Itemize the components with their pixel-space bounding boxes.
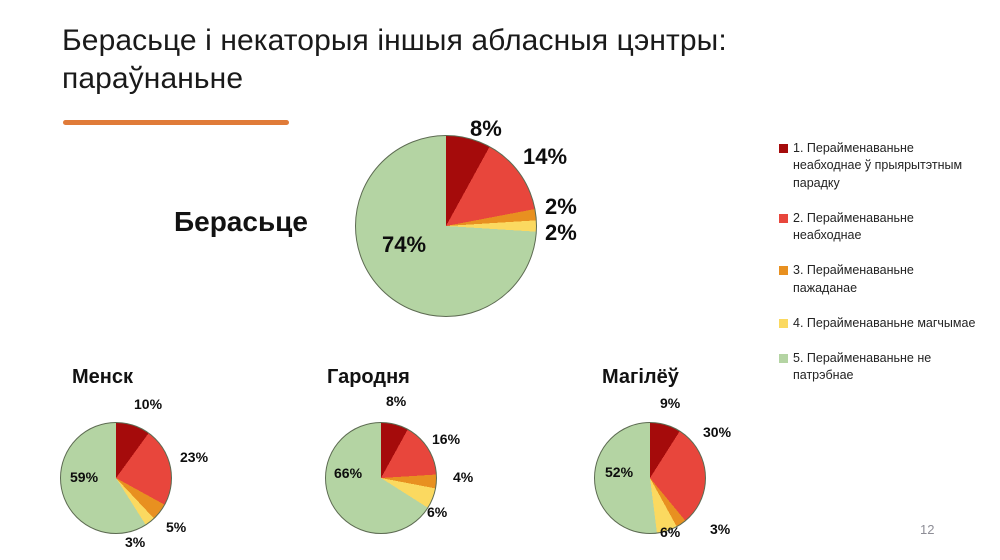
pie-mahilou-slice-label-1: 9%: [660, 396, 680, 410]
legend-item-5: 5. Перайменаваньне не патрэбнае: [779, 350, 979, 385]
pie-brest-circle: [355, 135, 537, 317]
pie-mahilou-slice-label-4: 6%: [660, 525, 680, 539]
pie-hrodna-slice-label-1: 8%: [386, 394, 406, 408]
pie-brest-slice-label-3: 2%: [545, 196, 577, 218]
legend-item-4: 4. Перайменаваньне магчымае: [779, 315, 979, 332]
pie-brest-slice-label-2: 14%: [523, 146, 567, 168]
pie-mahilou-slice-label-3: 3%: [710, 522, 730, 536]
page-number: 12: [920, 522, 934, 537]
pie-mahilou-slice-label-2: 30%: [703, 425, 731, 439]
pie-brest-title: Берасьце: [174, 206, 308, 238]
pie-hrodna-slice-label-5: 66%: [334, 466, 362, 480]
legend-label-5: 5. Перайменаваньне не патрэбнае: [793, 350, 979, 385]
pie-brest-slice-label-4: 2%: [545, 222, 577, 244]
legend-label-1: 1. Перайменаваньне неабходнае ў прыярытэ…: [793, 140, 979, 192]
pie-hrodna-slice-label-3: 4%: [453, 470, 473, 484]
legend-item-1: 1. Перайменаваньне неабходнае ў прыярытэ…: [779, 140, 979, 192]
legend-swatch-icon-4: [779, 319, 788, 328]
legend-item-3: 3. Перайменаваньне пажаданае: [779, 262, 979, 297]
pie-hrodna-title: Гародня: [327, 366, 410, 389]
pie-minsk-slice-label-5: 59%: [70, 470, 98, 484]
title-underline-accent: [63, 120, 289, 125]
chart-legend: 1. Перайменаваньне неабходнае ў прыярытэ…: [779, 140, 979, 403]
legend-label-2: 2. Перайменаваньне неабходнае: [793, 210, 979, 245]
legend-swatch-icon-2: [779, 214, 788, 223]
pie-brest-slice-label-5: 74%: [382, 234, 426, 256]
page-title: Берасьце і некаторыя іншыя абласныя цэнт…: [62, 22, 842, 99]
pie-mahilou-title: Магілёў: [602, 366, 679, 389]
legend-label-4: 4. Перайменаваньне магчымае: [793, 315, 975, 332]
pie-hrodna-slice-label-2: 16%: [432, 432, 460, 446]
legend-label-3: 3. Перайменаваньне пажаданае: [793, 262, 979, 297]
pie-minsk-title: Менск: [72, 366, 133, 389]
pie-minsk-slice-label-4: 3%: [125, 535, 145, 549]
legend-swatch-icon-1: [779, 144, 788, 153]
legend-swatch-icon-3: [779, 266, 788, 275]
pie-mahilou-slice-label-5: 52%: [605, 465, 633, 479]
legend-swatch-icon-5: [779, 354, 788, 363]
legend-item-2: 2. Перайменаваньне неабходнае: [779, 210, 979, 245]
pie-hrodna-slice-label-4: 6%: [427, 505, 447, 519]
pie-brest-slice-label-1: 8%: [470, 118, 502, 140]
pie-minsk-slice-label-3: 5%: [166, 520, 186, 534]
pie-minsk-slice-label-2: 23%: [180, 450, 208, 464]
pie-minsk-slice-label-1: 10%: [134, 397, 162, 411]
